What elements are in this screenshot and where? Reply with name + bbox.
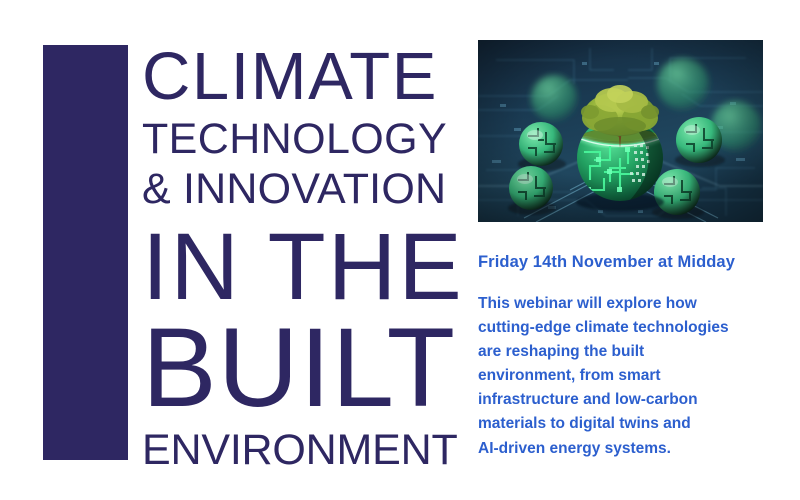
hero-image-green-tech-globe [478,40,763,222]
title-line-technology: TECHNOLOGY [142,114,472,164]
description-line: This webinar will explore how [478,292,768,316]
vertical-purple-accent-bar [43,45,128,460]
webinar-promo-banner: CLIMATE TECHNOLOGY & INNOVATION IN THE B… [0,0,800,500]
description-line: cutting-edge climate technologies [478,316,768,340]
description-line: infrastructure and low-carbon [478,388,768,412]
title-line-environment: ENVIRONMENT [142,426,472,474]
title-line-in-the: IN THE [142,218,472,316]
title-line-built: BUILT [142,316,472,420]
title-line-innovation: & INNOVATION [142,164,472,214]
description-line: materials to digital twins and [478,412,768,436]
webinar-description: This webinar will explore how cutting-ed… [478,292,768,461]
description-line: are reshaping the built [478,340,768,364]
event-date-time: Friday 14th November at Midday [478,252,735,272]
page-title: CLIMATE TECHNOLOGY & INNOVATION IN THE B… [142,40,472,474]
description-line: AI-driven energy systems. [478,437,768,461]
title-line-climate: CLIMATE [142,40,472,114]
description-line: environment, from smart [478,364,768,388]
